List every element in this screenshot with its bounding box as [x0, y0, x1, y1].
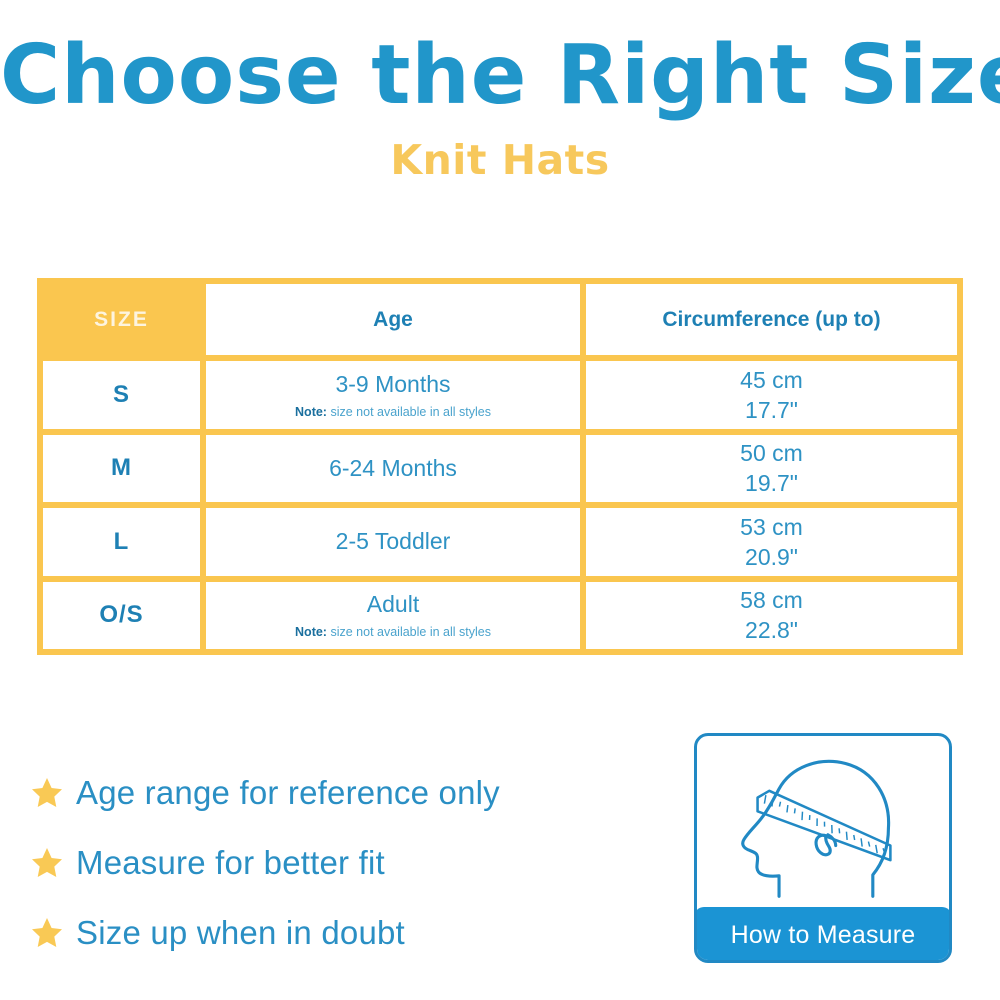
- cell-age: 6-24 Months: [206, 435, 580, 503]
- column-header-circumference: Circumference (up to): [586, 284, 957, 355]
- list-item: Age range for reference only: [30, 758, 670, 828]
- how-to-measure-panel[interactable]: How to Measure: [694, 733, 952, 963]
- cell-size: S: [43, 361, 200, 429]
- how-to-measure-button[interactable]: How to Measure: [694, 907, 952, 963]
- cell-size: M: [43, 435, 200, 503]
- cell-circumference: 53 cm 20.9": [586, 508, 957, 576]
- cell-age: 2-5 Toddler: [206, 508, 580, 576]
- circumference-in: 17.7": [745, 395, 798, 425]
- column-header-age-label: Age: [373, 308, 413, 332]
- age-note-text: size not available in all styles: [327, 625, 491, 639]
- cell-size: O/S: [43, 582, 200, 650]
- size-value: M: [111, 454, 132, 482]
- circumference-in: 22.8": [745, 615, 798, 645]
- list-item-label: Age range for reference only: [76, 774, 500, 812]
- head-profile-with-measuring-tape-icon: [697, 736, 949, 914]
- list-item-label: Size up when in doubt: [76, 914, 405, 952]
- page-title: Choose the Right Size: [0, 28, 1000, 124]
- age-value: 6-24 Months: [329, 455, 457, 482]
- circumference-cm: 45 cm: [740, 365, 803, 395]
- size-value: L: [114, 528, 130, 556]
- circumference-in: 20.9": [745, 542, 798, 572]
- table-row: M 6-24 Months 50 cm 19.7": [43, 435, 957, 503]
- age-note: Note: size not available in all styles: [295, 405, 491, 419]
- cell-circumference: 45 cm 17.7": [586, 361, 957, 429]
- cell-circumference: 50 cm 19.7": [586, 435, 957, 503]
- column-header-circumference-label: Circumference (up to): [662, 308, 880, 332]
- table-row: S 3-9 Months Note: size not available in…: [43, 361, 957, 429]
- age-value: Adult: [367, 591, 419, 618]
- list-item: Size up when in doubt: [30, 898, 670, 968]
- cell-age: 3-9 Months Note: size not available in a…: [206, 361, 580, 429]
- star-icon: [30, 846, 64, 880]
- cell-age: Adult Note: size not available in all st…: [206, 582, 580, 650]
- table-row: O/S Adult Note: size not available in al…: [43, 582, 957, 650]
- circumference-cm: 53 cm: [740, 512, 803, 542]
- size-value: S: [113, 381, 130, 409]
- list-item-label: Measure for better fit: [76, 844, 385, 882]
- list-item: Measure for better fit: [30, 828, 670, 898]
- age-note: Note: size not available in all styles: [295, 625, 491, 639]
- cell-circumference: 58 cm 22.8": [586, 582, 957, 650]
- age-value: 3-9 Months: [335, 371, 450, 398]
- size-chart-table: SIZE Age Circumference (up to) S 3-9 Mon…: [37, 278, 963, 655]
- age-note-text: size not available in all styles: [327, 405, 491, 419]
- table-row: L 2-5 Toddler 53 cm 20.9": [43, 508, 957, 576]
- column-header-size: SIZE: [43, 284, 200, 355]
- age-value: 2-5 Toddler: [336, 528, 451, 555]
- tips-list: Age range for reference only Measure for…: [30, 758, 670, 968]
- age-note-label: Note:: [295, 405, 327, 419]
- circumference-cm: 50 cm: [740, 438, 803, 468]
- page-header: Choose the Right Size Knit Hats: [0, 28, 1000, 184]
- table-header-row: SIZE Age Circumference (up to): [43, 284, 957, 355]
- star-icon: [30, 776, 64, 810]
- page-subtitle: Knit Hats: [0, 136, 1000, 184]
- star-icon: [30, 916, 64, 950]
- size-value: O/S: [99, 601, 143, 629]
- age-note-label: Note:: [295, 625, 327, 639]
- column-header-age: Age: [206, 284, 580, 355]
- circumference-in: 19.7": [745, 468, 798, 498]
- cell-size: L: [43, 508, 200, 576]
- circumference-cm: 58 cm: [740, 585, 803, 615]
